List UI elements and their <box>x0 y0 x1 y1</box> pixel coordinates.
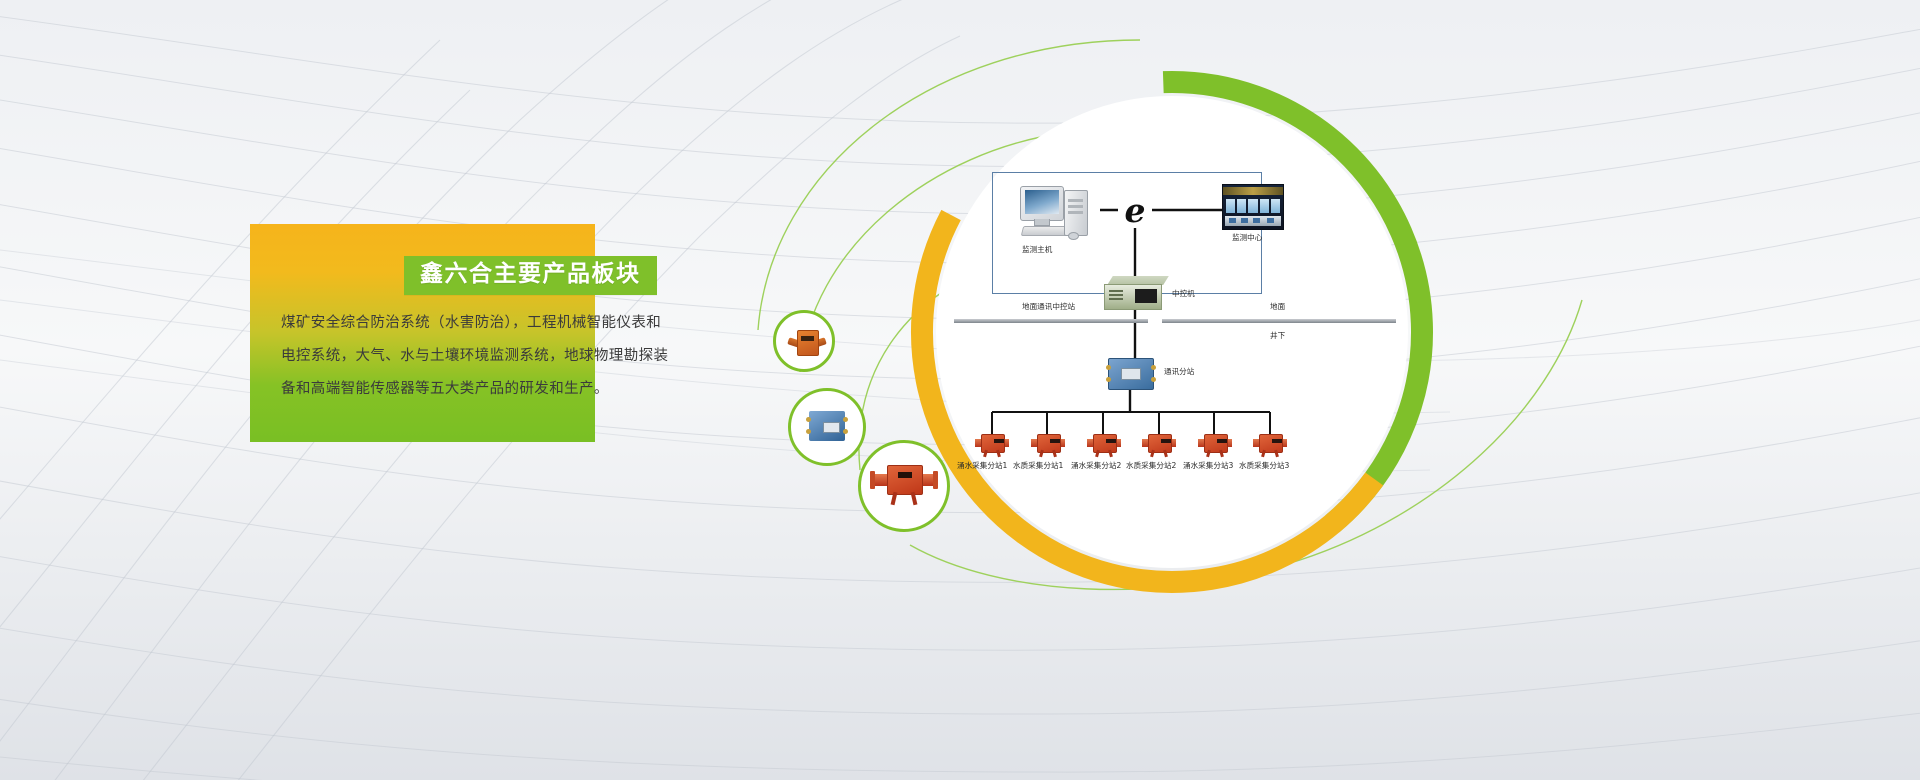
banner-stage: 鑫六合主要产品板块 煤矿安全综合防治系统（水害防治），工程机械智能仪表和 电控系… <box>0 0 1920 780</box>
water-monitoring-flow-diagram: 监测主机 e 监测中心 中控机 地面通讯中控站 地面 井下 <box>940 100 1410 580</box>
label-ground-station: 地面通讯中控站 <box>1022 303 1075 311</box>
paragraph-line: 煤矿安全综合防治系统（水害防治），工程机械智能仪表和 <box>281 307 711 340</box>
description-paragraph: 煤矿安全综合防治系统（水害防治），工程机械智能仪表和 电控系统，大气、水与土壤环… <box>281 307 711 406</box>
ground-line-gap <box>1148 317 1162 325</box>
label-surface: 地面 <box>1270 303 1285 311</box>
page-title: 鑫六合主要产品板块 <box>420 263 641 286</box>
paragraph-line: 电控系统，大气、水与土壤环境监测系统，地球物理勘探装 <box>281 340 711 373</box>
label-collection-station: 涌水采集分站3 <box>1183 462 1233 470</box>
label-collection-station: 涌水采集分站1 <box>957 462 1007 470</box>
section-title-banner: 鑫六合主要产品板块 <box>404 256 657 295</box>
comm-substation-icon <box>1108 358 1154 390</box>
product-bubble-orange-device[interactable] <box>773 310 835 372</box>
blue-junction-box-icon <box>804 411 850 443</box>
label-monitor-host: 监测主机 <box>1022 246 1052 254</box>
label-collection-station: 涌水采集分站2 <box>1071 462 1121 470</box>
ground-level-line <box>954 319 1396 323</box>
red-flow-meter-icon <box>870 465 938 507</box>
monitor-host-icon <box>1020 186 1092 240</box>
label-collection-station: 水质采集分站3 <box>1239 462 1289 470</box>
label-underground: 井下 <box>1270 332 1285 340</box>
monitoring-center-icon <box>1222 184 1284 230</box>
product-bubble-red-flow-meter[interactable] <box>858 440 950 532</box>
label-comm-substation: 通讯分站 <box>1164 368 1194 376</box>
product-diagram-composition: 监测主机 e 监测中心 中控机 地面通讯中控站 地面 井下 <box>740 0 1920 780</box>
collection-station-icon <box>1253 434 1287 458</box>
collection-station-icon <box>1142 434 1176 458</box>
label-central-control: 中控机 <box>1172 290 1195 298</box>
collection-station-icon <box>1031 434 1065 458</box>
label-collection-station: 水质采集分站2 <box>1126 462 1176 470</box>
collection-station-icon <box>1087 434 1121 458</box>
central-control-unit-icon <box>1104 276 1166 310</box>
network-cloud-e-icon: e <box>1118 194 1152 228</box>
collection-station-icon <box>1198 434 1232 458</box>
label-monitoring-center: 监测中心 <box>1232 234 1262 242</box>
orange-explosion-proof-device-icon <box>788 330 826 356</box>
collection-station-icon <box>975 434 1009 458</box>
label-collection-station: 水质采集分站1 <box>1013 462 1063 470</box>
product-bubble-blue-junction-box[interactable] <box>788 388 866 466</box>
paragraph-line: 备和高端智能传感器等五大类产品的研发和生产。 <box>281 373 711 406</box>
